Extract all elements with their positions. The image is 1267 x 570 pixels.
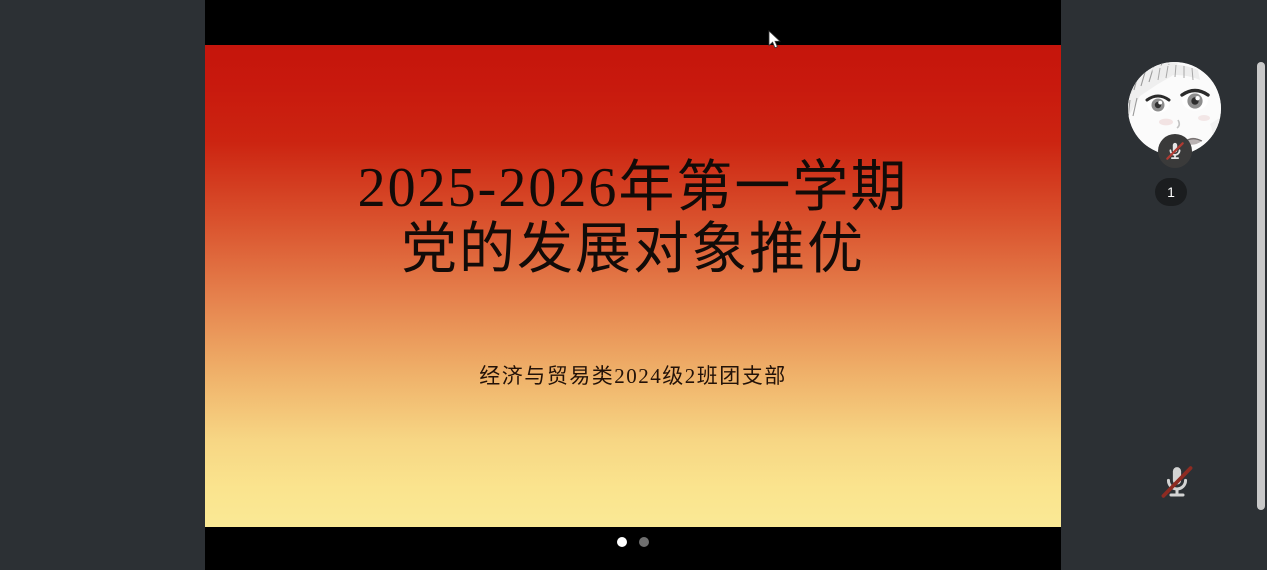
scrollbar-thumb[interactable] [1257,62,1265,510]
slide-title: 2025-2026年第一学期 党的发展对象推优 [205,157,1061,281]
microphone-muted-icon [1158,134,1192,168]
presentation-slide[interactable]: 2025-2026年第一学期 党的发展对象推优 经济与贸易类2024级2班团支部 [205,45,1061,527]
pagination-dot-1[interactable] [617,537,627,547]
slide-subtitle: 经济与贸易类2024级2班团支部 [205,360,1061,390]
slide-pagination[interactable] [205,537,1061,547]
participant-tile[interactable] [1128,62,1221,155]
participant-rail: 1 [1061,0,1267,570]
screen-share-stage[interactable]: 2025-2026年第一学期 党的发展对象推优 经济与贸易类2024级2班团支部 [205,0,1061,570]
participant-count-badge: 1 [1155,178,1187,206]
pagination-dot-2[interactable] [639,537,649,547]
microphone-muted-icon[interactable] [1156,461,1198,503]
